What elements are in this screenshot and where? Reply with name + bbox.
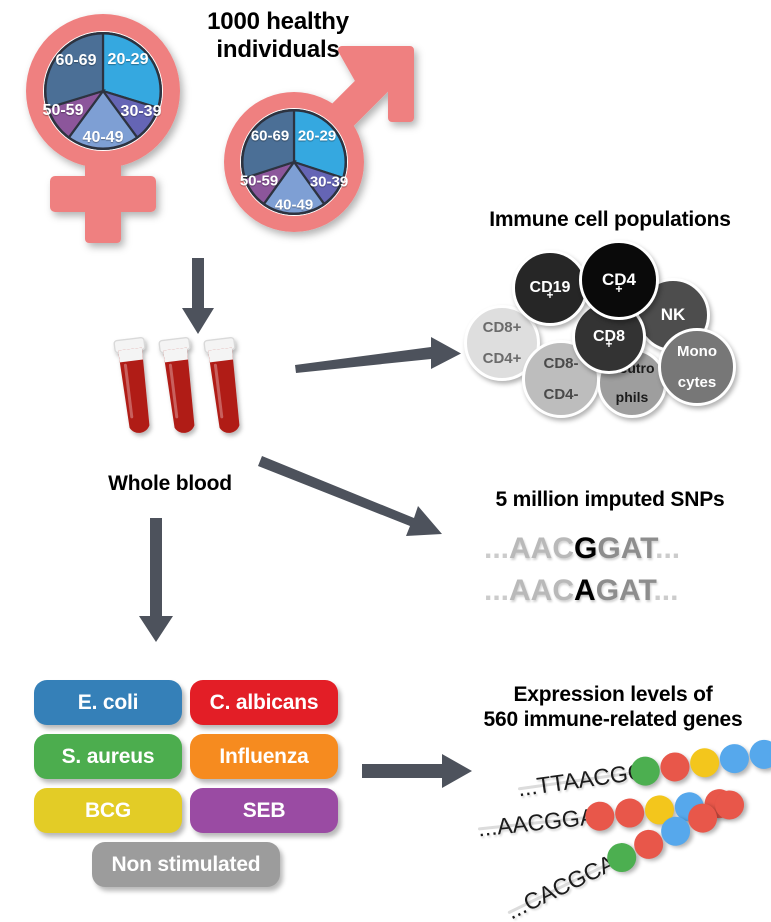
bead-blue bbox=[718, 742, 751, 775]
snp-variant-allele: A bbox=[574, 574, 596, 607]
pie-label-50-59: 50-59 bbox=[240, 173, 278, 190]
pie-label-20-29: 20-29 bbox=[298, 128, 336, 145]
stimulation-panel: E. coli C. albicans S. aureus Influenza … bbox=[34, 680, 346, 895]
cell-cd19pos: CD19+ bbox=[512, 250, 588, 326]
expression-strands: ...TTAACGG ...AACGGAT ...CACGCAA bbox=[460, 748, 771, 918]
cell-label-dn-line2: CD4- bbox=[543, 387, 578, 403]
pie-label-20-29: 20-29 bbox=[108, 51, 149, 69]
expression-heading-line1: Expression levels of bbox=[460, 683, 766, 708]
arrow-stimulations-to-expression bbox=[362, 752, 474, 790]
snp-dots-right: ... bbox=[655, 532, 680, 565]
male-symbol: 20-29 30-39 40-49 50-59 60-69 bbox=[196, 40, 426, 250]
bead-red bbox=[659, 751, 692, 784]
whole-blood-label: Whole blood bbox=[70, 472, 270, 497]
snp-sequence-row: ...AACAGAT... bbox=[484, 574, 678, 608]
snps-title: 5 million imputed SNPs bbox=[452, 488, 768, 513]
pie-label-30-39: 30-39 bbox=[310, 174, 348, 191]
figure-canvas: 1000 healthy individuals bbox=[0, 0, 771, 922]
cell-label-dp-line1: CD8+ bbox=[483, 320, 522, 336]
cell-label-mono-line1: Mono bbox=[677, 344, 717, 360]
female-symbol: 20-29 30-39 40-49 50-59 60-69 bbox=[8, 8, 198, 248]
snp-dots-right: ... bbox=[653, 574, 678, 607]
immune-title: Immune cell populations bbox=[452, 208, 768, 233]
pie-label-30-39: 30-39 bbox=[121, 103, 162, 121]
blood-tube bbox=[114, 337, 155, 434]
snp-dots-left: ... bbox=[484, 574, 509, 607]
bead-red bbox=[614, 797, 646, 829]
snp-variant-allele: G bbox=[574, 532, 597, 565]
arrow-blood-to-stimulations bbox=[135, 518, 177, 644]
expression-heading: Expression levels of 560 immune-related … bbox=[460, 683, 766, 733]
cell-label-mono-line2: cytes bbox=[677, 375, 717, 391]
snp-prefix: AAC bbox=[509, 574, 574, 607]
immune-cell-cluster: CD8+ CD4+ CD8- CD4- Neutro phils NK Mono… bbox=[460, 240, 760, 420]
stimulation-pill-calbicans[interactable]: C. albicans bbox=[190, 680, 338, 725]
pie-label-40-49: 40-49 bbox=[275, 197, 313, 214]
snp-prefix: AAC bbox=[509, 532, 574, 565]
cell-label-dp-line2: CD4+ bbox=[483, 351, 522, 367]
cell-label-nk: NK bbox=[661, 306, 686, 324]
snp-dots-left: ... bbox=[484, 532, 509, 565]
stimulation-pill-ecoli[interactable]: E. coli bbox=[34, 680, 182, 725]
snp-suffix: GAT bbox=[597, 532, 655, 565]
expression-heading-line2: 560 immune-related genes bbox=[460, 708, 766, 733]
bead-blue bbox=[748, 738, 771, 771]
arrow-blood-to-immune bbox=[295, 325, 465, 375]
cell-label-neutro-line2: phils bbox=[609, 390, 654, 405]
stimulation-pill-saureus[interactable]: S. aureus bbox=[34, 734, 182, 779]
cohort-heading-line1: 1000 healthy bbox=[178, 8, 378, 36]
snp-suffix: GAT bbox=[596, 574, 654, 607]
arrow-cohort-to-blood bbox=[178, 258, 218, 336]
blood-tube bbox=[204, 337, 245, 434]
blood-tube bbox=[159, 337, 200, 434]
stimulation-pill-non-stimulated[interactable]: Non stimulated bbox=[92, 842, 280, 887]
arrow-blood-to-snps bbox=[262, 448, 452, 548]
stimulation-pill-seb[interactable]: SEB bbox=[190, 788, 338, 833]
cell-label-dn-line1: CD8- bbox=[543, 356, 578, 372]
bead-yellow bbox=[688, 746, 721, 779]
stimulation-pill-influenza[interactable]: Influenza bbox=[190, 734, 338, 779]
snp-sequence-row: ...AACGGAT... bbox=[484, 532, 680, 566]
pie-label-60-69: 60-69 bbox=[251, 128, 289, 145]
snp-sequence-block: ...AACGGAT... ...AACAGAT... bbox=[470, 528, 760, 618]
blood-tubes bbox=[100, 335, 280, 450]
cell-cd4pos: CD4+ bbox=[579, 240, 659, 320]
stimulation-pill-bcg[interactable]: BCG bbox=[34, 788, 182, 833]
cell-monocytes: Mono cytes bbox=[658, 328, 736, 406]
pie-label-50-59: 50-59 bbox=[43, 102, 84, 120]
pie-label-60-69: 60-69 bbox=[56, 52, 97, 70]
pie-label-40-49: 40-49 bbox=[83, 129, 124, 147]
